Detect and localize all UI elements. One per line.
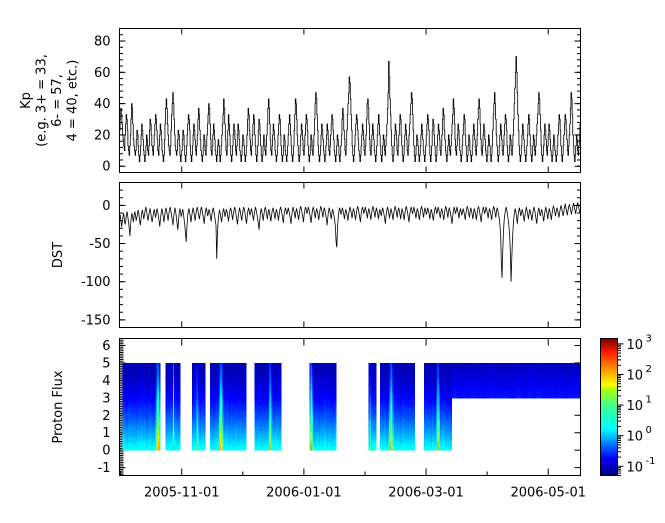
- y-tick-label-dst: 0: [102, 199, 110, 214]
- y-tick-label-dst: -50: [89, 237, 110, 252]
- x-tick-label: 2006-01-01: [266, 486, 342, 501]
- scientific-figure: 0204060800-50-100-150-101234562005-11-01…: [0, 0, 665, 523]
- y-tick-label-proton: 0: [102, 444, 110, 459]
- y-tick-label-kp: 40: [94, 97, 111, 112]
- x-tick-label: 2005-11-01: [144, 486, 220, 501]
- panel-frame-dst: [120, 183, 581, 328]
- kp-series-group: [120, 57, 581, 162]
- proton-axis-title: Proton Flux: [51, 370, 66, 443]
- y-tick-label-proton: 2: [102, 409, 110, 424]
- y-tick-label-kp: 20: [94, 128, 111, 143]
- y-tick-label-proton: 6: [102, 339, 110, 354]
- kp-axis-title-line: 4 = 40, etc.): [66, 60, 81, 142]
- panel-frame-proton: [120, 339, 581, 476]
- dst-axis-title: DST: [51, 242, 66, 268]
- dst-series-group: [120, 202, 580, 281]
- kp-axis-title: Kp(e.g. 3+ = 33,6- = 57,4 = 40, etc.): [19, 54, 81, 147]
- kp-series: [120, 57, 581, 162]
- dst-series: [120, 202, 580, 281]
- y-tick-label-proton: 1: [102, 426, 110, 441]
- heatmap-block: [122, 363, 160, 451]
- y-axis-dst: 0-50-100-150: [81, 183, 581, 329]
- figure-root: 0204060800-50-100-150-101234562005-11-01…: [0, 0, 665, 523]
- x-axis: 2005-11-012006-01-012006-03-012006-05-01: [121, 29, 586, 501]
- y-tick-label-dst: -100: [81, 275, 111, 290]
- y-tick-label-kp: 60: [94, 66, 111, 81]
- kp-axis-title-line: 6- = 57,: [50, 74, 65, 127]
- y-tick-label-dst: -150: [81, 313, 111, 328]
- heatmap-cell: [204, 449, 206, 451]
- y-tick-label-kp: 0: [102, 160, 110, 175]
- heatmap-cell: [179, 449, 181, 451]
- kp-axis-title-line: (e.g. 3+ = 33,: [35, 54, 50, 147]
- proton-heatmap: [122, 363, 581, 451]
- y-tick-label-proton: 3: [102, 391, 110, 406]
- x-tick-label: 2006-03-01: [388, 486, 464, 501]
- x-tick-label: 2006-05-01: [510, 486, 586, 501]
- heatmap-cell: [159, 449, 161, 451]
- y-tick-label-proton: 5: [102, 356, 110, 371]
- heatmap-block: [210, 363, 247, 451]
- y-tick-label-proton: 4: [102, 374, 110, 389]
- y-tick-label-proton: -1: [98, 461, 111, 476]
- y-tick-label-kp: 80: [94, 35, 111, 50]
- heatmap-block: [192, 363, 206, 451]
- heatmap-block: [166, 363, 181, 451]
- kp-axis-title-line: Kp: [19, 92, 34, 109]
